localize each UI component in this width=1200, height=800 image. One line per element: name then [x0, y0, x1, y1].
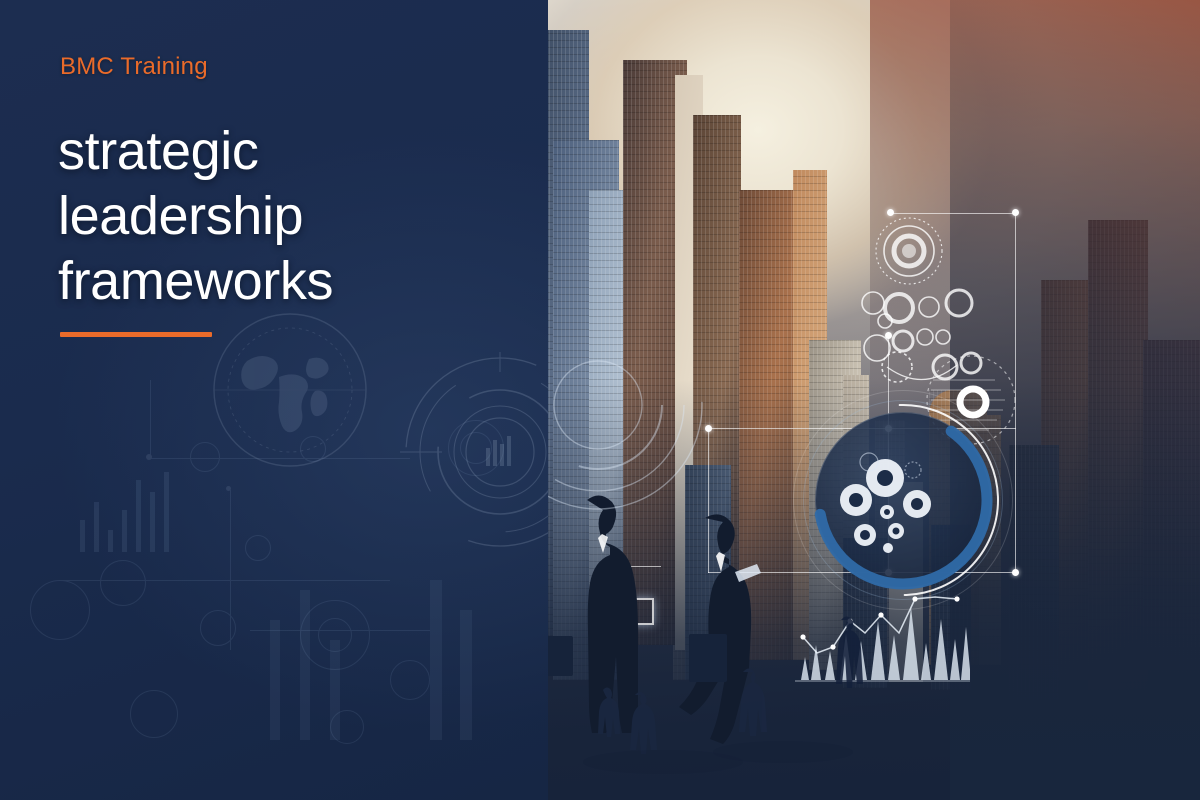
radar-gauge	[543, 290, 713, 520]
headline-line-2: leadership	[58, 184, 528, 249]
brand-eyebrow: BMC Training	[60, 53, 208, 81]
business-city-illustration	[543, 0, 1200, 800]
training-course-banner: BMC Training strategic leadership framew…	[0, 0, 1200, 800]
page-title: strategic leadership frameworks	[58, 119, 528, 314]
headline-line-1: strategic	[58, 119, 528, 184]
headline-line-3: frameworks	[58, 249, 528, 314]
title-panel: BMC Training strategic leadership framew…	[0, 0, 548, 800]
bar-chart-ghost	[250, 560, 510, 760]
accent-underline	[60, 332, 212, 337]
